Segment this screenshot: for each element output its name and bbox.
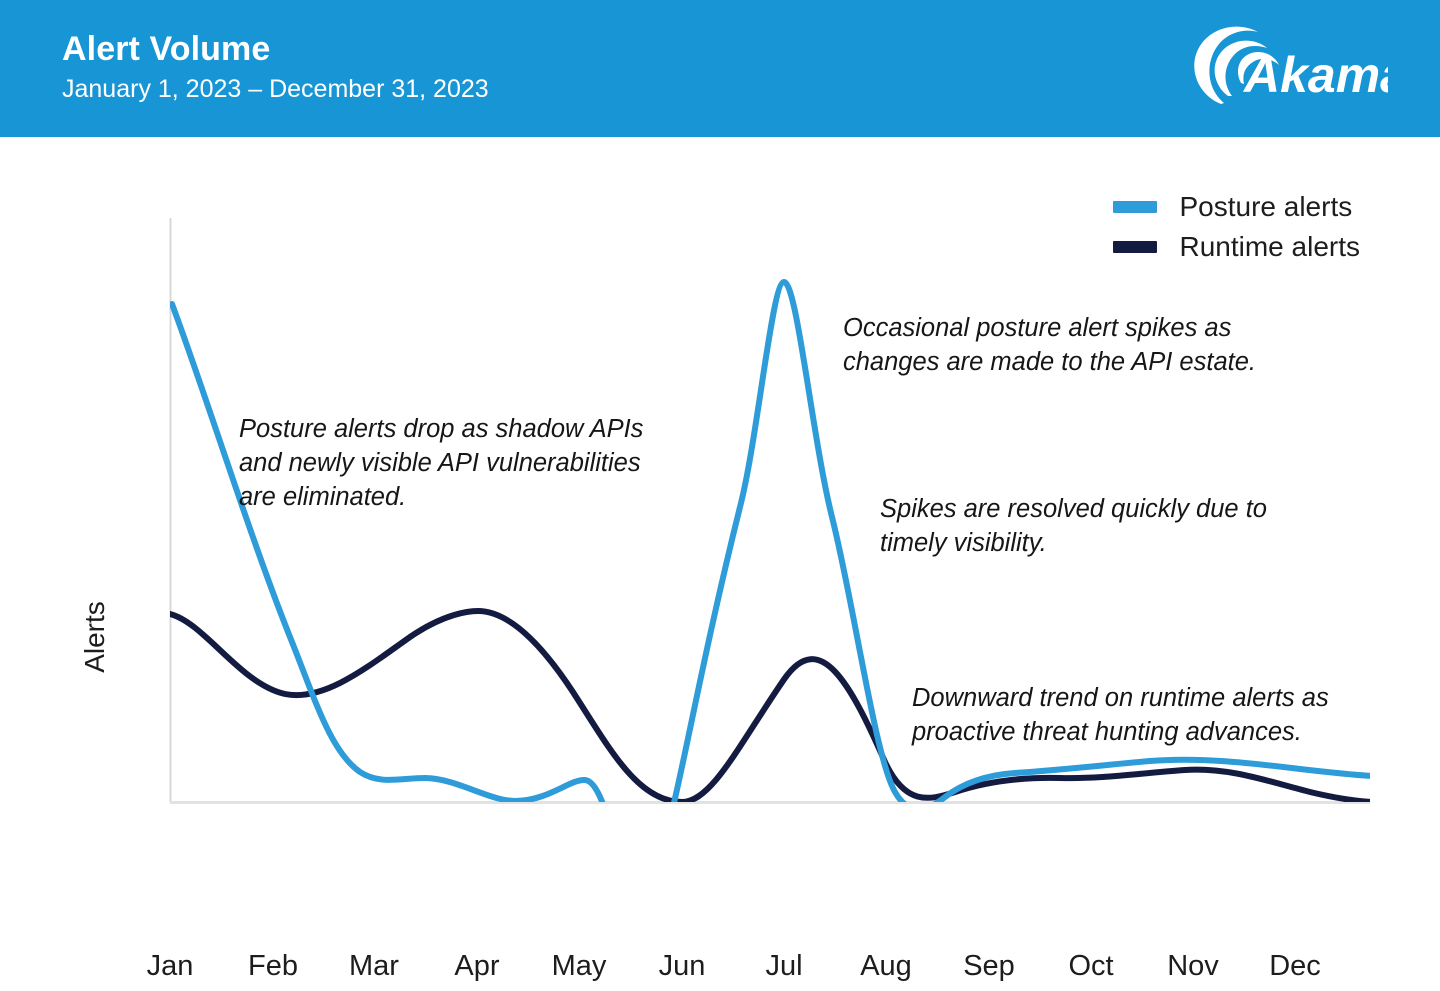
x-tick-mar: Mar	[314, 947, 434, 985]
annotation-posture-spikes: Occasional posture alert spikes as chang…	[843, 311, 1323, 379]
annotation-downward-trend: Downward trend on runtime alerts as proa…	[912, 681, 1392, 749]
svg-text:Akamai: Akamai	[1242, 47, 1388, 103]
header-title-block: Alert Volume January 1, 2023 – December …	[62, 28, 489, 105]
akamai-logo: Akamai	[1188, 26, 1388, 108]
page-header: Alert Volume January 1, 2023 – December …	[0, 0, 1440, 137]
x-axis-tick-labels: Jan Feb Mar Apr May Jun Jul Aug Sep Oct …	[0, 947, 1440, 991]
x-tick-jan: Jan	[110, 947, 230, 985]
x-tick-aug: Aug	[826, 947, 946, 985]
annotation-spikes-resolved: Spikes are resolved quickly due to timel…	[880, 492, 1330, 560]
x-tick-may: May	[519, 947, 639, 985]
x-tick-dec: Dec	[1235, 947, 1355, 985]
annotation-posture-drop: Posture alerts drop as shadow APIs and n…	[239, 412, 709, 514]
page-date-range: January 1, 2023 – December 31, 2023	[62, 73, 489, 105]
page-title: Alert Volume	[62, 28, 489, 70]
